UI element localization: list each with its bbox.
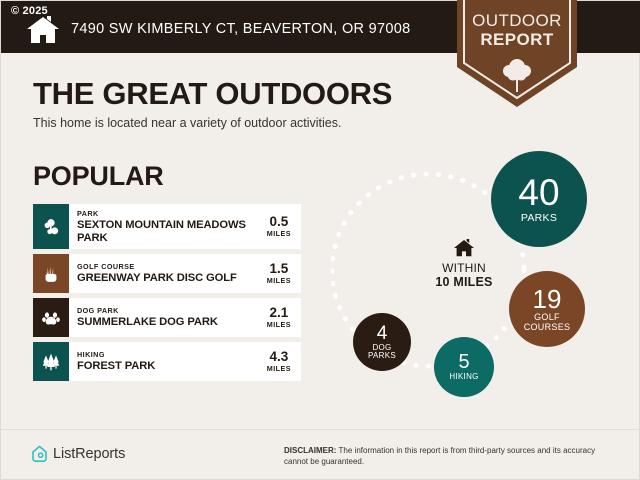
outdoor-report-page: © 2025 7490 SW KIMBERLY CT, BEAVERTON, O… [0,0,640,480]
center-line-1: WITHIN [409,261,519,275]
disclaimer-label: DISCLAIMER: [284,446,336,455]
list-item[interactable]: GOLF COURSE GREENWAY PARK DISC GOLF 1.5 … [33,254,301,293]
list-item-category: GOLF COURSE [77,262,263,272]
bubble-label: PARKS [521,213,557,224]
list-item-unit: MILES [267,364,291,373]
pine-trees-icon [33,342,69,381]
list-item-distance: 0.5 [267,215,291,229]
list-item-name: SUMMERLAKE DOG PARK [77,316,263,329]
bubble-value: 5 [458,352,469,372]
listreports-house-pin-icon [31,445,48,463]
bubble-label: DOG PARKS [368,344,396,361]
page-title: THE GREAT OUTDOORS [33,76,392,112]
list-item-name: FOREST PARK [77,360,263,373]
park-tree-icon [33,204,69,249]
list-item-unit: MILES [267,320,291,329]
paw-print-icon [33,298,69,337]
list-item-distance: 1.5 [267,262,291,276]
listreports-logo-text: ListReports [53,446,125,462]
bubble-value: 4 [377,324,388,343]
popular-heading: POPULAR [33,161,164,192]
list-item-name: SEXTON MOUNTAIN MEADOWS PARK [77,219,263,244]
bubble-label-line-2: COURSES [524,322,571,332]
disclaimer: DISCLAIMER: The information in this repo… [284,446,614,467]
bubble-label-line-2: PARKS [368,351,396,360]
list-item-category: DOG PARK [77,306,263,316]
center-line-2: 10 MILES [409,275,519,289]
golf-icon [33,254,69,293]
bubble-hiking[interactable]: 5 HIKING [434,337,494,397]
home-icon [453,239,475,257]
bubble-dog-parks[interactable]: 4 DOG PARKS [353,313,411,371]
home-icon [25,16,61,44]
bubble-value: 40 [518,174,559,211]
bubble-label: GOLF COURSES [524,313,571,332]
list-item[interactable]: PARK SEXTON MOUNTAIN MEADOWS PARK 0.5 MI… [33,204,301,249]
within-10-miles-chart: WITHIN 10 MILES 40 PARKS 19 GOLF COURSES… [331,141,631,411]
popular-list: PARK SEXTON MOUNTAIN MEADOWS PARK 0.5 MI… [33,204,301,386]
list-item[interactable]: HIKING FOREST PARK 4.3 MILES [33,342,301,381]
page-subtitle: This home is located near a variety of o… [33,116,341,130]
listreports-logo[interactable]: ListReports [31,445,125,463]
list-item[interactable]: DOG PARK SUMMERLAKE DOG PARK 2.1 MILES [33,298,301,337]
bubble-parks[interactable]: 40 PARKS [491,151,587,247]
bubble-golf-courses[interactable]: 19 GOLF COURSES [509,271,585,347]
chart-center-label: WITHIN 10 MILES [409,239,519,289]
footer-divider [1,429,640,430]
property-address: 7490 SW KIMBERLY CT, BEAVERTON, OR 97008 [71,21,410,37]
list-item-unit: MILES [267,229,291,238]
list-item-distance: 2.1 [267,306,291,320]
list-item-name: GREENWAY PARK DISC GOLF [77,272,263,285]
bubble-label: HIKING [449,373,478,381]
list-item-distance: 4.3 [267,350,291,364]
list-item-unit: MILES [267,276,291,285]
bubble-value: 19 [533,286,562,312]
outdoor-report-badge: OUTDOOR REPORT [453,0,581,111]
list-item-category: PARK [77,209,263,219]
list-item-category: HIKING [77,350,263,360]
